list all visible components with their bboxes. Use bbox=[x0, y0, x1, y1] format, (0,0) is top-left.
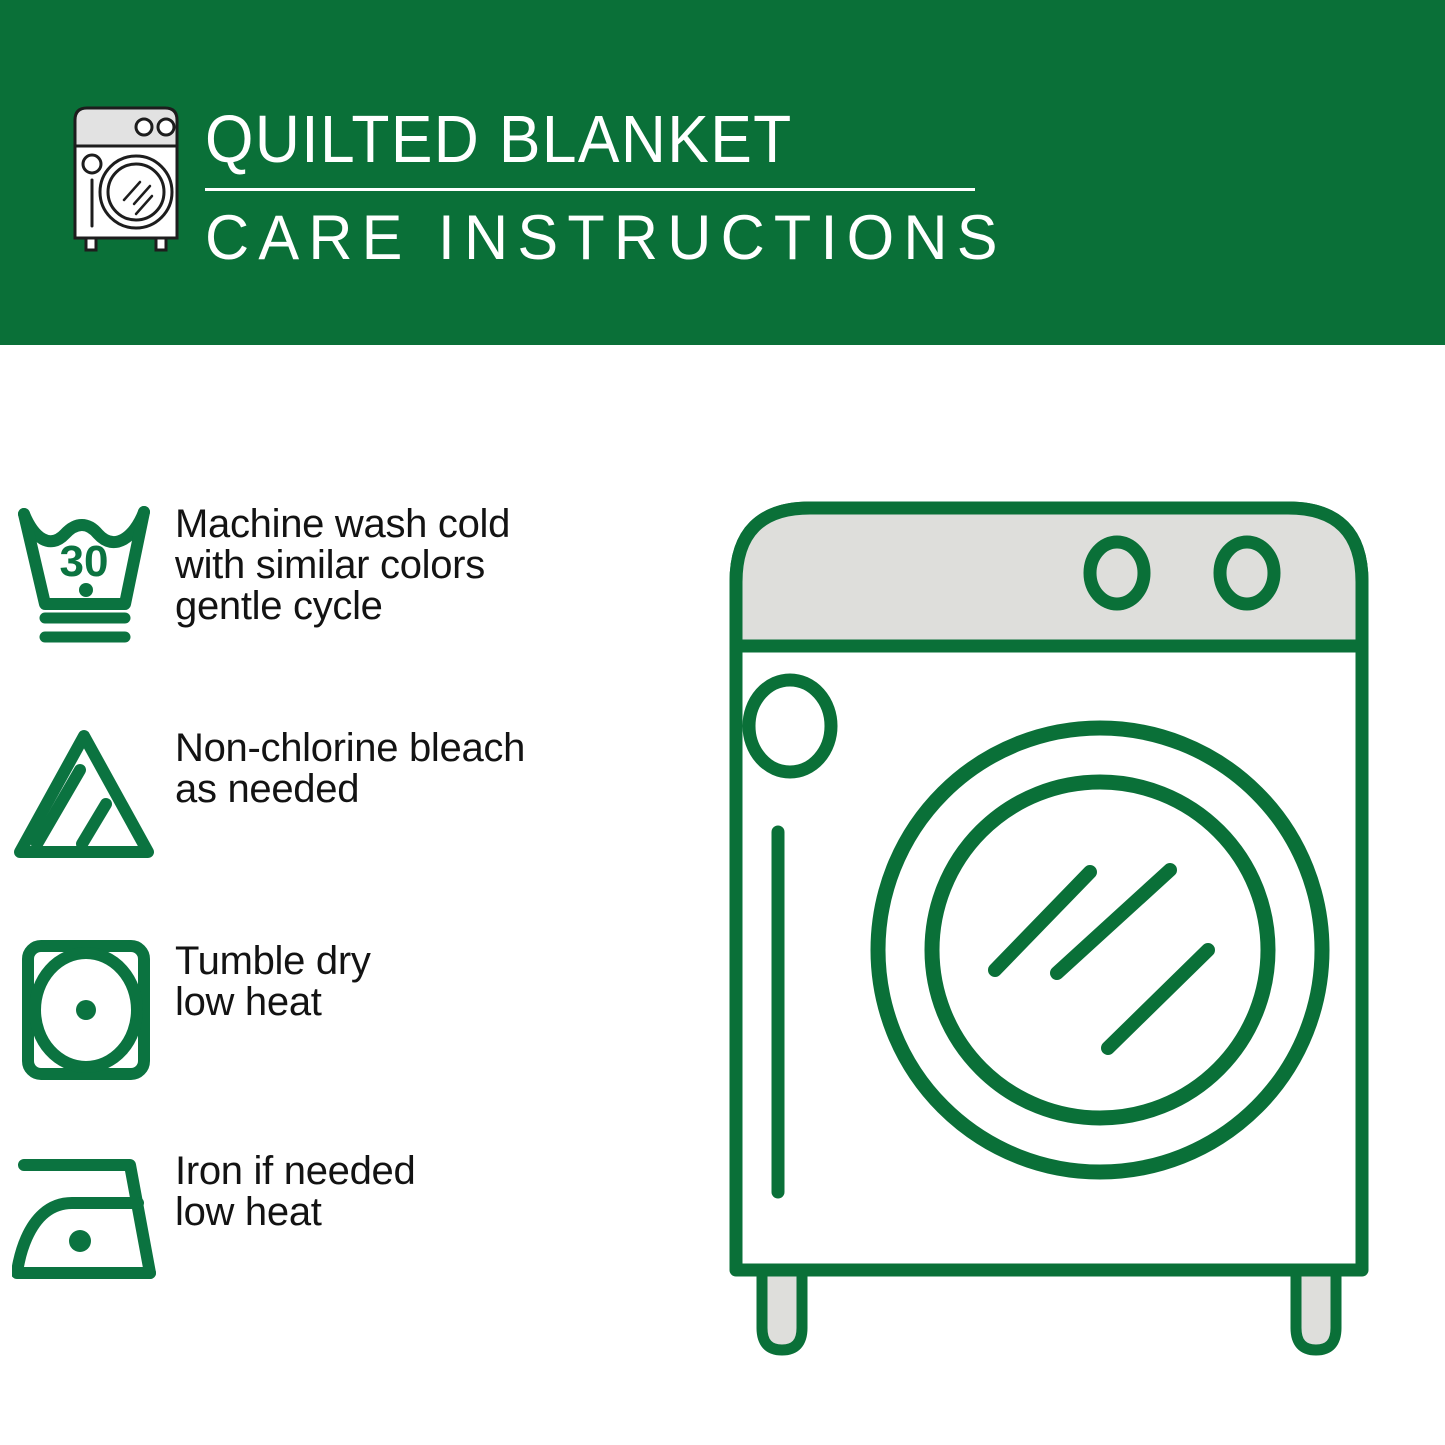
care-text-line: Iron if needed bbox=[175, 1151, 415, 1192]
wash-tub-30-icon: 30 bbox=[0, 498, 175, 648]
tumble-dry-icon bbox=[0, 935, 175, 1085]
care-text-line: as needed bbox=[175, 769, 525, 810]
bleach-triangle-icon bbox=[0, 722, 175, 872]
care-text-line: Tumble dry bbox=[175, 941, 371, 982]
care-row-tumble-dry: Tumble dry low heat bbox=[0, 935, 700, 1085]
care-text-line: low heat bbox=[175, 982, 371, 1023]
care-instruction-list: 30 Machine wash cold with similar colors… bbox=[0, 0, 700, 1445]
care-text-line: low heat bbox=[175, 1192, 415, 1233]
wash-temperature-label: 30 bbox=[59, 537, 108, 586]
care-row-machine-wash: 30 Machine wash cold with similar colors… bbox=[0, 498, 700, 648]
care-row-iron: Iron if needed low heat bbox=[0, 1145, 700, 1295]
door-latch-icon bbox=[749, 680, 831, 772]
care-text-line: with similar colors bbox=[175, 545, 510, 586]
care-text-iron: Iron if needed low heat bbox=[175, 1145, 415, 1233]
care-text-line: Machine wash cold bbox=[175, 504, 510, 545]
control-knob-left bbox=[1090, 542, 1144, 604]
care-instructions-page: QUILTED BLANKET CARE INSTRUCTIONS 30 bbox=[0, 0, 1445, 1445]
care-text-machine-wash: Machine wash cold with similar colors ge… bbox=[175, 498, 510, 627]
care-row-bleach: Non-chlorine bleach as needed bbox=[0, 722, 700, 872]
care-text-line: Non-chlorine bleach bbox=[175, 728, 525, 769]
iron-icon bbox=[0, 1145, 175, 1295]
control-knob-right bbox=[1220, 542, 1274, 604]
care-text-tumble-dry: Tumble dry low heat bbox=[175, 935, 371, 1023]
care-text-bleach: Non-chlorine bleach as needed bbox=[175, 722, 525, 810]
care-text-line: gentle cycle bbox=[175, 586, 510, 627]
front-load-washing-machine-illustration bbox=[700, 470, 1420, 1370]
